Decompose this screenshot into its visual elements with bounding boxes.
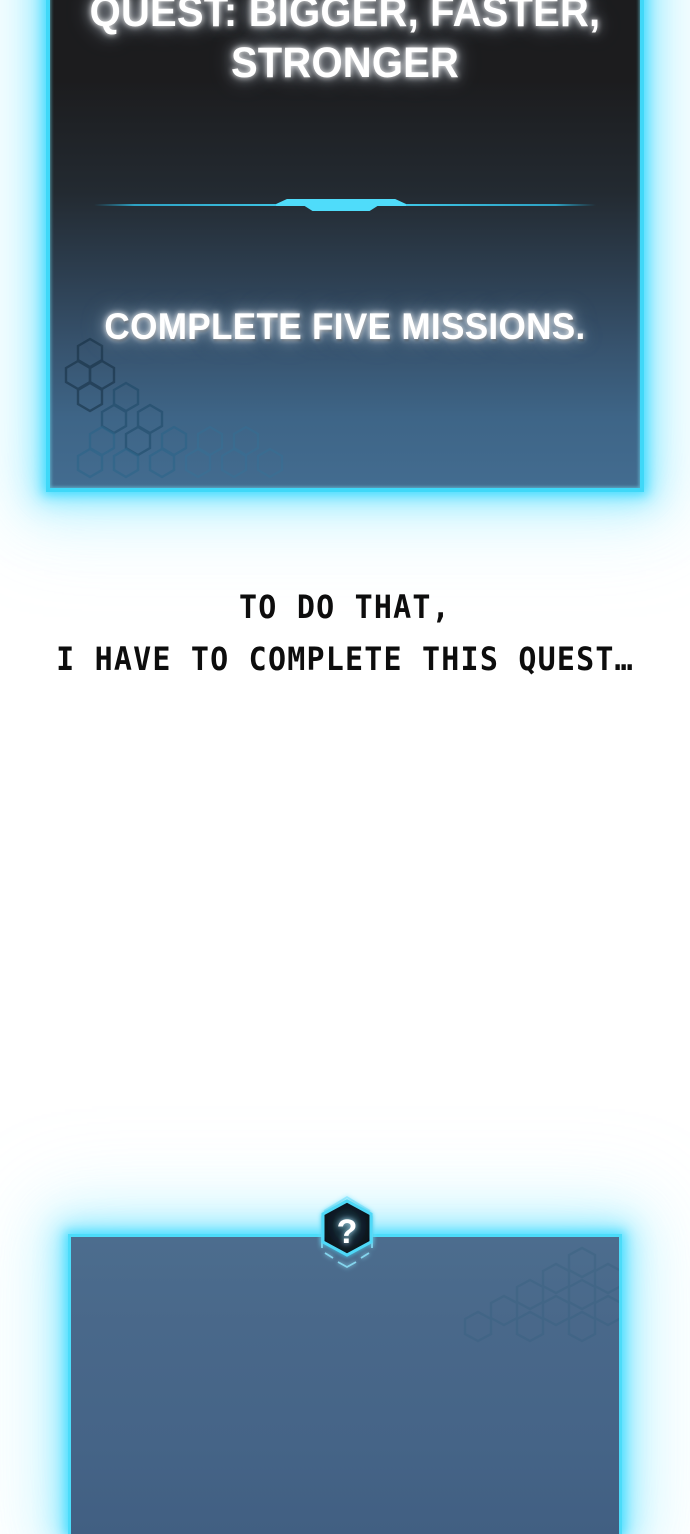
quest-divider-notch	[94, 196, 596, 218]
quest-objective-text: COMPLETE FIVE MISSIONS.	[65, 305, 626, 349]
hexagon-question-badge-icon[interactable]: ?	[311, 1191, 383, 1273]
bottom-panel-frame	[68, 1234, 622, 1534]
hexagon-cluster-icon	[419, 1245, 622, 1365]
narration-text: TO DO THAT, I HAVE TO COMPLETE THIS QUES…	[0, 582, 690, 686]
quest-title: GOAL ACHIEVEMENT QUEST: BIGGER, FASTER, …	[71, 0, 620, 89]
quest-panel: GOAL ACHIEVEMENT QUEST: BIGGER, FASTER, …	[46, 0, 644, 492]
quest-panel-frame: GOAL ACHIEVEMENT QUEST: BIGGER, FASTER, …	[46, 0, 644, 492]
quest-panel-body: GOAL ACHIEVEMENT QUEST: BIGGER, FASTER, …	[50, 0, 640, 488]
bottom-panel	[68, 1234, 622, 1534]
